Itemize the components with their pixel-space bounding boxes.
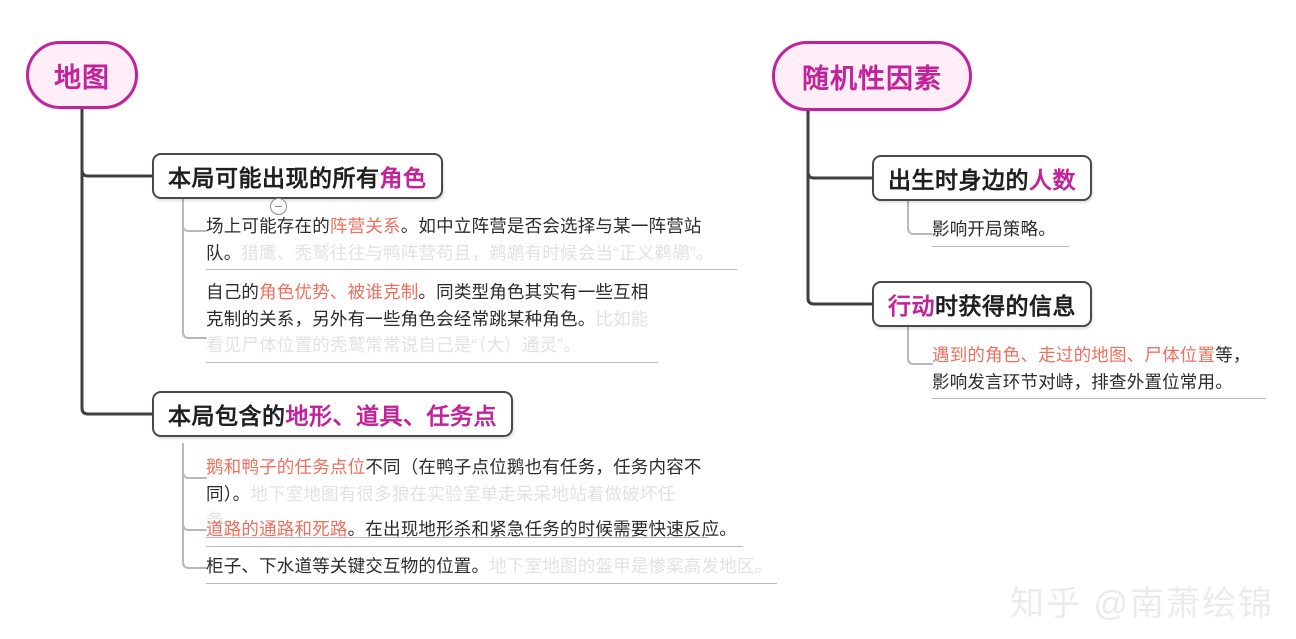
leaf-opening-strategy-p0: 影响开局策略。 bbox=[932, 219, 1056, 239]
wire-random-to-action bbox=[808, 110, 872, 304]
leaf-camp-relation-p0: 场上可能存在的 bbox=[206, 216, 330, 236]
wire-terrain-leaf-2 bbox=[183, 444, 206, 530]
leaf-role-advantage[interactable]: 自己的角色优势、被谁克制。同类型角色其实有一些互相克制的关系，另外有一些角色会经… bbox=[206, 279, 658, 363]
branch-spawn-prefix: 出生时身边的 bbox=[888, 161, 1029, 195]
leaf-opening-strategy[interactable]: 影响开局策略。 bbox=[932, 216, 1069, 247]
branch-action-suffix: 时获得的信息 bbox=[935, 287, 1076, 321]
leaf-action-info-p0: 遇到的角色、走过的地图、尸体位置 bbox=[932, 345, 1215, 365]
leaf-camp-relation[interactable]: 场上可能存在的阵营关系。如中立阵营是否会选择与某一阵营站队。猎鹰、秃鹫往往与鸭阵… bbox=[206, 213, 737, 270]
branch-node-all-roles[interactable]: 本局可能出现的所有角色 bbox=[152, 153, 443, 199]
leaf-road-paths-p0: 道路的通路和死路 bbox=[206, 519, 348, 539]
root-node-random-label: 随机性因素 bbox=[802, 57, 942, 96]
leaf-key-objects-p0: 柜子、下水道等关键交互物的位置。 bbox=[206, 556, 489, 576]
wire-terrain-leaf-3 bbox=[183, 444, 206, 568]
wire-allroles-leaf-2 bbox=[183, 198, 206, 338]
wire-map-to-terrain bbox=[82, 108, 152, 414]
wire-action-leaf-1 bbox=[908, 326, 932, 364]
leaf-role-advantage-p1: 角色优势、被谁克制 bbox=[259, 282, 418, 302]
branch-all-roles-highlight: 角色 bbox=[380, 159, 427, 193]
leaf-key-objects[interactable]: 柜子、下水道等关键交互物的位置。地下室地图的盔甲是惨案高发地区。 bbox=[206, 553, 777, 584]
branch-node-terrain[interactable]: 本局包含的地形、道具、任务点 bbox=[152, 391, 513, 437]
leaf-camp-relation-p1: 阵营关系 bbox=[330, 216, 401, 236]
leaf-camp-relation-p3: 猎鹰、秃鹫往往与鸭阵营苟且，鹈鹕有时候会当“正义鹈鹕”。 bbox=[241, 243, 713, 263]
branch-node-spawn-count[interactable]: 出生时身边的人数 bbox=[872, 155, 1092, 201]
branch-all-roles-prefix: 本局可能出现的所有 bbox=[168, 159, 380, 193]
leaf-road-paths-p1: 。在出现地形杀和紧急任务的时候需要快速反应。 bbox=[348, 519, 737, 539]
mindmap-canvas: 地图 随机性因素 本局可能出现的所有角色 本局包含的地形、道具、任务点 出生时身… bbox=[0, 0, 1296, 639]
leaf-role-advantage-p0: 自己的 bbox=[206, 282, 259, 302]
wire-random-to-spawn bbox=[808, 110, 872, 178]
root-node-random[interactable]: 随机性因素 bbox=[772, 41, 972, 111]
leaf-action-gained-info[interactable]: 遇到的角色、走过的地图、尸体位置等，影响发言环节对峙，排查外置位常用。 bbox=[932, 342, 1266, 399]
branch-node-action-info[interactable]: 行动时获得的信息 bbox=[872, 281, 1092, 327]
wire-terrain-leaf-1 bbox=[183, 444, 206, 478]
branch-terrain-prefix: 本局包含的 bbox=[168, 397, 286, 431]
branch-spawn-highlight: 人数 bbox=[1029, 161, 1076, 195]
watermark: 知乎 @南萧绘锦 bbox=[1010, 576, 1274, 625]
root-node-map-label: 地图 bbox=[54, 56, 110, 95]
root-node-map[interactable]: 地图 bbox=[26, 41, 138, 109]
branch-terrain-highlight: 地形、道具、任务点 bbox=[286, 397, 498, 431]
wire-spawn-leaf-1 bbox=[908, 200, 932, 234]
leaf-goose-duck-p0: 鹅和鸭子的任务点位 bbox=[206, 457, 365, 477]
wire-allroles-leaf-1 bbox=[183, 198, 206, 231]
branch-action-highlight: 行动 bbox=[888, 287, 935, 321]
leaf-key-objects-p1: 地下室地图的盔甲是惨案高发地区。 bbox=[489, 556, 772, 576]
leaf-road-paths[interactable]: 道路的通路和死路。在出现地形杀和紧急任务的时候需要快速反应。 bbox=[206, 516, 743, 547]
wire-map-to-all-roles bbox=[82, 108, 152, 176]
